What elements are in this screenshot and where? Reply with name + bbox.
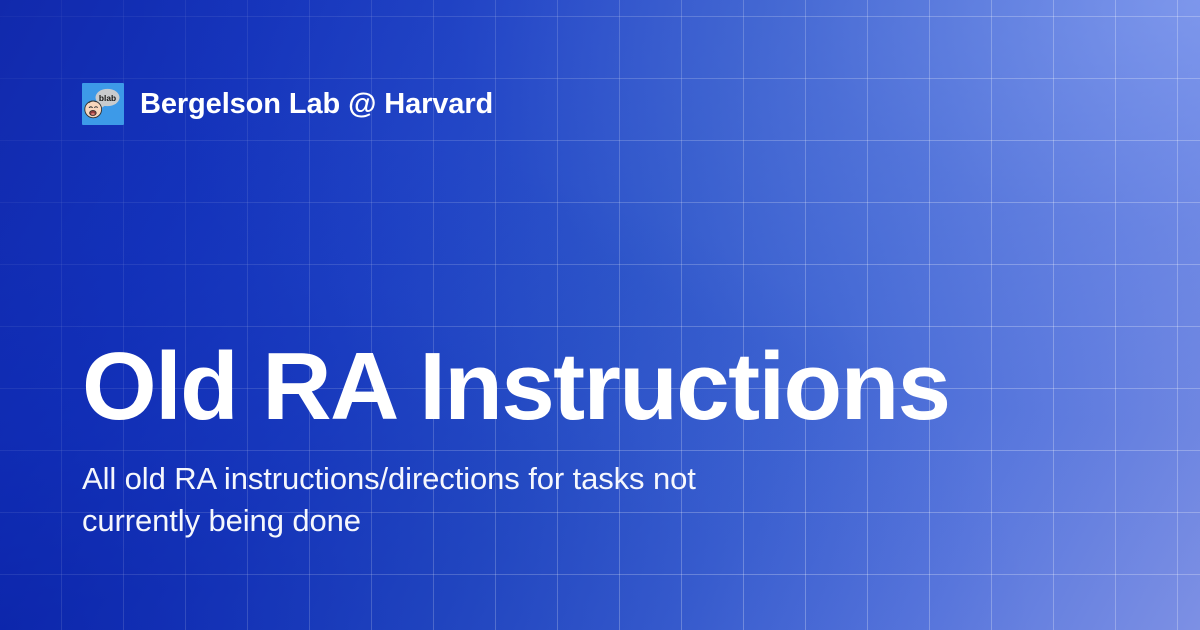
brand-row: blab Bergelson Lab @ Harvard [82, 83, 493, 125]
brand-title: Bergelson Lab @ Harvard [140, 90, 493, 119]
page-subtitle: All old RA instructions/directions for t… [82, 458, 822, 542]
svg-text:blab: blab [99, 93, 116, 103]
card-content: blab Bergelson Lab @ Harvard Old RA Inst… [0, 0, 1200, 630]
og-preview-card: blab Bergelson Lab @ Harvard Old RA Inst… [0, 0, 1200, 630]
headline-block: Old RA Instructions All old RA instructi… [82, 338, 1120, 542]
blab-baby-logo-icon: blab [82, 83, 124, 125]
page-title: Old RA Instructions [82, 338, 1120, 436]
